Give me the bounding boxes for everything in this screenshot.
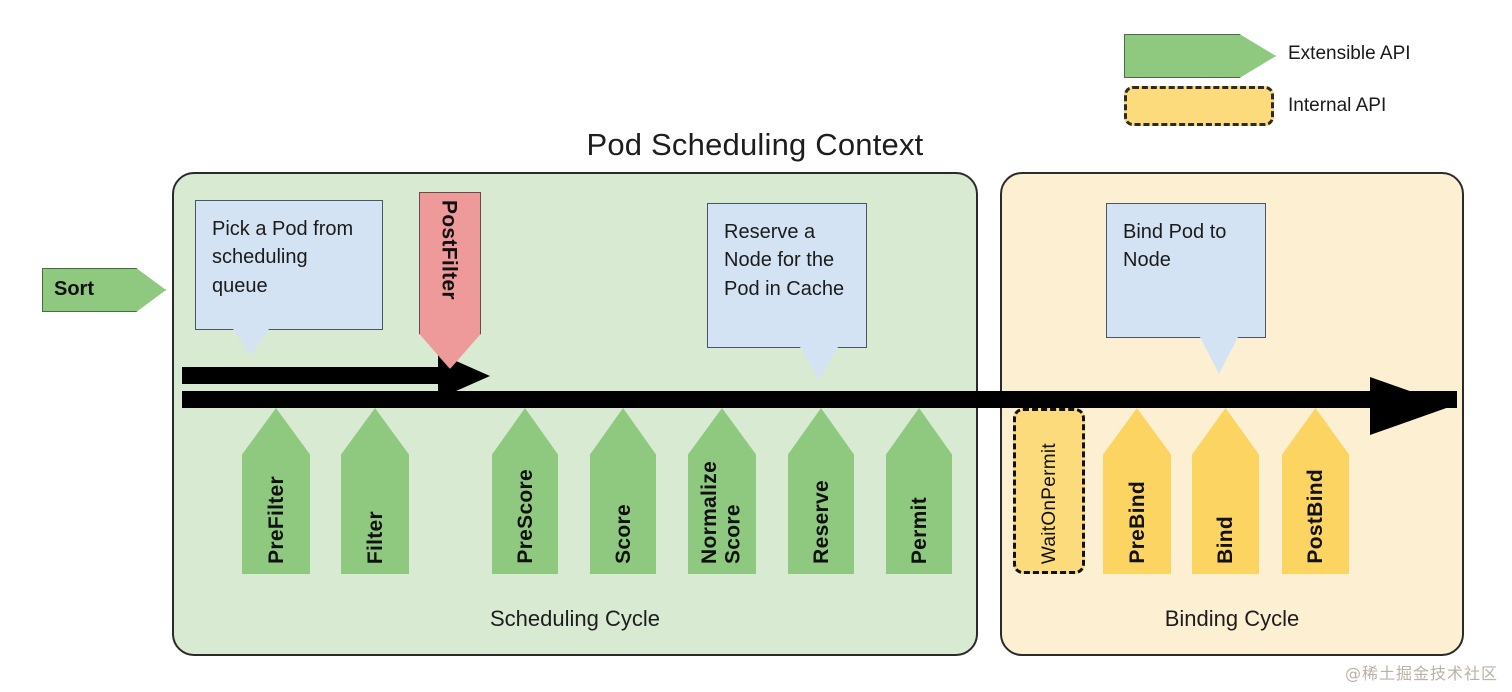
stage-filter-label: Filter (341, 408, 409, 574)
flow-bar-upper (182, 367, 457, 384)
stage-score-text: Score (613, 504, 634, 564)
page-title-text: Pod Scheduling Context (586, 127, 923, 163)
callout-reserve-node: Reserve a Node for the Pod in Cache (707, 203, 867, 348)
stage-prescore-text: PreScore (515, 469, 536, 564)
internal-api-swatch (1124, 86, 1274, 126)
watermark: @稀土掘金技术社区 (1345, 660, 1498, 684)
binding-cycle-caption: Binding Cycle (1002, 606, 1462, 632)
stage-score-label: Score (590, 408, 656, 574)
stage-postfilter-label: PostFilter (419, 192, 479, 357)
callout-pick-pod-tail (233, 329, 269, 355)
legend-label-internal: Internal API (1288, 86, 1386, 126)
callout-bind-pod-tail (1200, 337, 1238, 374)
callout-reserve-node-tail (800, 347, 838, 380)
legend: Extensible API Internal API (1124, 34, 1504, 134)
stage-permit-text: Permit (909, 497, 930, 564)
extensible-api-swatch (1124, 34, 1276, 78)
stage-normalize-score-label: Normalize Score (688, 408, 756, 574)
stage-prebind-text: PreBind (1127, 481, 1148, 564)
flow-arrowhead-end (1370, 377, 1452, 435)
stage-postbind-text: PostBind (1305, 469, 1326, 564)
stage-normalize-score-text: Normalize Score (698, 408, 745, 564)
stage-prefilter-text: PreFilter (266, 476, 287, 564)
stage-bind-text: Bind (1215, 516, 1236, 564)
diagram-canvas: Extensible API Internal API Pod Scheduli… (0, 0, 1512, 692)
callout-bind-pod: Bind Pod to Node (1106, 203, 1266, 338)
stage-prescore-label: PreScore (492, 408, 558, 574)
stage-reserve-label: Reserve (788, 408, 854, 574)
stage-reserve-text: Reserve (811, 480, 832, 564)
stage-waitonpermit-label: WaitOnPermit (1013, 408, 1085, 574)
stage-waitonpermit-text: WaitOnPermit (1040, 443, 1059, 564)
stage-permit-label: Permit (886, 408, 952, 574)
stage-postbind-label: PostBind (1282, 408, 1349, 574)
stage-postfilter-text: PostFilter (439, 200, 460, 300)
legend-label-extensible: Extensible API (1288, 34, 1411, 74)
stage-prebind-label: PreBind (1103, 408, 1171, 574)
scheduling-cycle-caption: Scheduling Cycle (174, 606, 976, 632)
stage-prefilter-label: PreFilter (242, 408, 310, 574)
page-title: Pod Scheduling Context (0, 127, 1512, 163)
stage-bind-label: Bind (1192, 408, 1259, 574)
sort-stage-label: Sort (42, 268, 154, 310)
stage-filter-text: Filter (365, 511, 386, 564)
callout-pick-pod: Pick a Pod from scheduling queue (195, 200, 383, 330)
flow-bar-lower (182, 391, 1457, 408)
